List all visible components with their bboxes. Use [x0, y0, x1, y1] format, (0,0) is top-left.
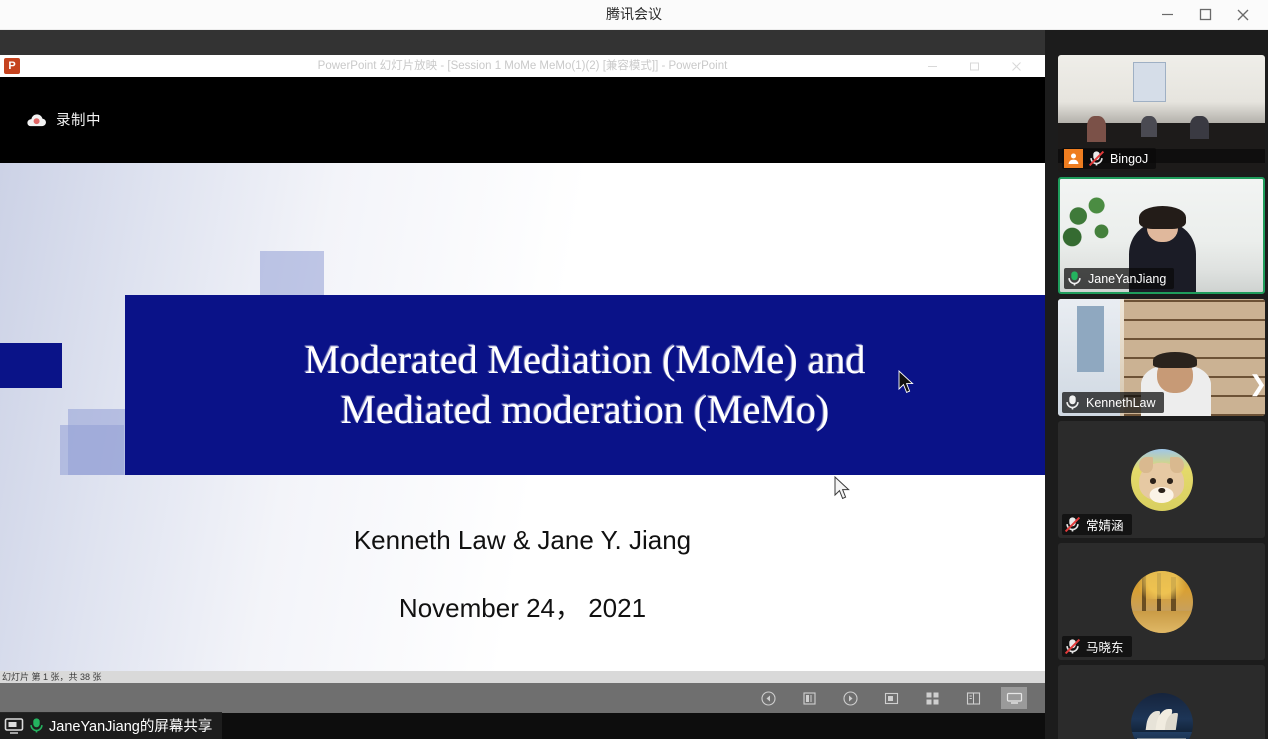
powerpoint-window-title: PowerPoint 幻灯片放映 - [Session 1 MoMe MeMo(… — [0, 55, 1045, 77]
desktop-strip — [0, 30, 1045, 55]
participant-name: JaneYanJiang — [1088, 272, 1166, 286]
slideshow-status-bar: 幻灯片 第 1 张，共 38 张 — [0, 671, 1045, 683]
slide-title-line-1: Moderated Mediation (MoMe) and — [305, 335, 866, 385]
monitor-icon — [1006, 691, 1023, 706]
participant-tile-janeyanjiang[interactable]: JaneYanJiang — [1058, 177, 1265, 294]
window-title: 腾讯会议 — [0, 0, 1268, 29]
previous-slide-button[interactable] — [755, 687, 781, 709]
maximize-icon — [1199, 8, 1212, 21]
screen-share-label: JaneYanJiang的屏幕共享 — [49, 715, 212, 736]
pen-icon — [802, 691, 817, 706]
microphone-icon — [28, 717, 45, 734]
participant-tile-maxiaodong[interactable]: 马晓东 — [1058, 543, 1265, 660]
slide-canvas[interactable]: Moderated Mediation (MoMe) and Mediated … — [0, 163, 1045, 671]
shared-screen-region: P PowerPoint 幻灯片放映 - [Session 1 MoMe MeM… — [0, 30, 1045, 739]
restore-icon — [969, 61, 980, 72]
powerpoint-window-controls — [911, 55, 1037, 77]
presenter-notes-button[interactable] — [960, 687, 986, 709]
participant-tile-changjinghan[interactable]: 常婧涵 — [1058, 421, 1265, 538]
slide-title-banner: Moderated Mediation (MoMe) and Mediated … — [125, 295, 1045, 475]
minimize-icon — [1161, 8, 1174, 21]
close-button[interactable] — [1224, 0, 1262, 29]
recording-label: 录制中 — [56, 109, 101, 130]
recording-bar: 录制中 — [0, 77, 1045, 160]
microphone-icon — [1064, 394, 1081, 411]
screen-share-badge: JaneYanJiang的屏幕共享 — [0, 712, 222, 739]
next-slide-button[interactable] — [837, 687, 863, 709]
window-titlebar: 腾讯会议 — [0, 0, 1268, 30]
participant-name: KennethLaw — [1086, 396, 1156, 410]
zoom-slide-button[interactable] — [878, 687, 904, 709]
participant-badge: BingoJ — [1062, 148, 1156, 169]
participant-tile-bingoj[interactable]: BingoJ — [1058, 55, 1265, 172]
participant-tile-kennethlaw[interactable]: KennethLaw — [1058, 299, 1265, 416]
powerpoint-close-button[interactable] — [995, 55, 1037, 77]
minimize-icon — [927, 61, 938, 72]
participant-badge: KennethLaw — [1062, 392, 1164, 413]
microphone-muted-icon — [1088, 150, 1105, 167]
grid-icon — [925, 691, 940, 706]
slide-title: Moderated Mediation (MoMe) and Mediated … — [125, 295, 1045, 475]
participant-name: 马晓东 — [1086, 637, 1124, 656]
display-settings-button[interactable] — [1001, 687, 1027, 709]
participant-badge: 马晓东 — [1062, 636, 1132, 657]
avatar — [1131, 449, 1193, 511]
powerpoint-restore-button[interactable] — [953, 55, 995, 77]
recording-indicator: 录制中 — [26, 109, 101, 130]
tencent-meeting-window: 腾讯会议 P Powe — [0, 0, 1268, 739]
slide-date: November 24， 2021 — [0, 588, 1045, 625]
participant-badge: 常婧涵 — [1062, 514, 1132, 535]
chevron-left-circle-icon — [761, 691, 776, 706]
slideshow-toolbar — [0, 683, 1045, 713]
monitor-icon — [4, 717, 24, 735]
decor-square-solid — [0, 343, 62, 388]
magnifier-slide-icon — [884, 691, 899, 706]
minimize-button[interactable] — [1148, 0, 1186, 29]
microphone-icon — [1066, 270, 1083, 287]
microphone-muted-icon — [1064, 516, 1081, 533]
slideshow-toolbar-icons — [755, 683, 1027, 713]
window-controls — [1148, 0, 1262, 29]
avatar — [1131, 693, 1193, 739]
avatar — [1131, 571, 1193, 633]
mouse-cursor-white — [834, 476, 851, 501]
microphone-muted-icon — [1064, 638, 1081, 655]
participant-tile-zhangxiaolong[interactable]: 张小龙 — [1058, 665, 1265, 739]
cloud-icon — [26, 112, 47, 127]
pen-tools-button[interactable] — [796, 687, 822, 709]
person-icon — [1064, 149, 1083, 168]
notes-icon — [966, 691, 981, 706]
close-icon — [1236, 8, 1250, 22]
slide-author: Kenneth Law & Jane Y. Jiang — [0, 525, 1045, 556]
powerpoint-minimize-button[interactable] — [911, 55, 953, 77]
slide-counter: 幻灯片 第 1 张，共 38 张 — [2, 671, 102, 683]
chevron-right-circle-icon — [843, 691, 858, 706]
powerpoint-titlebar: P PowerPoint 幻灯片放映 - [Session 1 MoMe MeM… — [0, 55, 1045, 77]
participant-name: 常婧涵 — [1086, 515, 1124, 534]
participant-badge: JaneYanJiang — [1064, 268, 1174, 289]
slide-title-line-2: Mediated moderation (MeMo) — [341, 385, 830, 435]
participant-filmstrip[interactable]: BingoJ JaneYanJiang — [1045, 30, 1268, 739]
close-icon — [1011, 61, 1022, 72]
participant-name: BingoJ — [1110, 152, 1148, 166]
carousel-next-button[interactable]: ❯ — [1250, 366, 1266, 402]
maximize-button[interactable] — [1186, 0, 1224, 29]
decor-square — [60, 425, 124, 475]
all-slides-button[interactable] — [919, 687, 945, 709]
